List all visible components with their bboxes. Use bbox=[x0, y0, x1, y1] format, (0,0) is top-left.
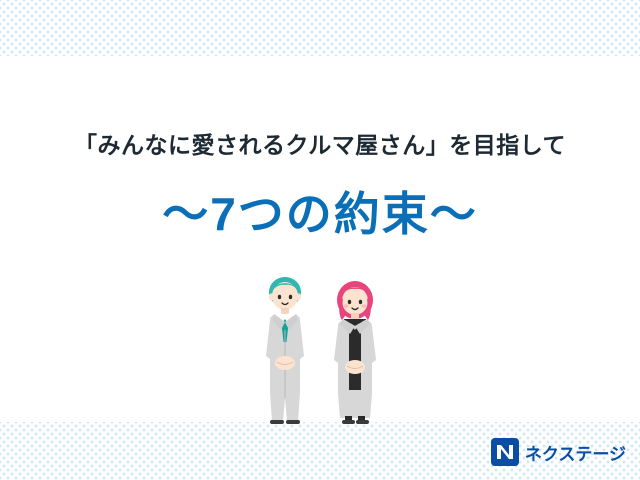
woman-figure bbox=[334, 281, 376, 424]
brand-logo: ネクステージ bbox=[491, 438, 626, 466]
nextage-logo-mark-icon bbox=[491, 438, 519, 466]
page-subtitle: 〜7つの約束〜 bbox=[0, 178, 640, 244]
page-title: 「みんなに愛されるクルマ屋さん」を目指して bbox=[0, 126, 640, 160]
slide-canvas: 「みんなに愛されるクルマ屋さん」を目指して 〜7つの約束〜 bbox=[0, 0, 640, 480]
man-figure bbox=[266, 277, 304, 424]
dotted-band-top bbox=[0, 0, 640, 56]
brand-name: ネクステージ bbox=[525, 440, 626, 465]
two-people-bowing-illustration bbox=[236, 272, 406, 424]
